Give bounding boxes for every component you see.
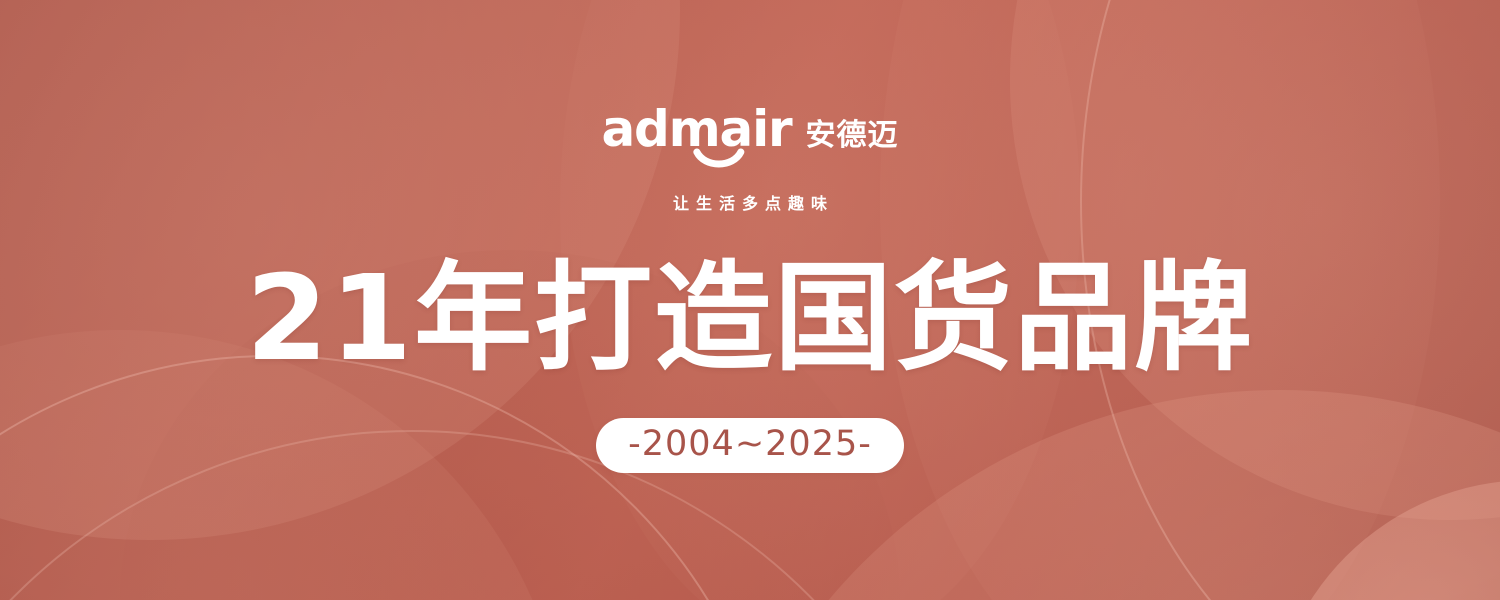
smile-curve-icon: [692, 148, 744, 172]
year-range-badge: -2004~2025-: [596, 418, 904, 473]
page-title: 21年打造国货品牌: [246, 258, 1254, 378]
brand-logo: admair 安德迈: [602, 104, 899, 154]
logo-brand-cn: 安德迈: [805, 121, 898, 154]
banner-content: admair 安德迈 让生活多点趣味 21年打造国货品牌 -2004~2025-: [0, 0, 1500, 600]
promo-banner: admair 安德迈 让生活多点趣味 21年打造国货品牌 -2004~2025-: [0, 0, 1500, 600]
wordmark-wrapper: admair: [602, 104, 792, 154]
brand-tagline: 让生活多点趣味: [666, 190, 834, 214]
